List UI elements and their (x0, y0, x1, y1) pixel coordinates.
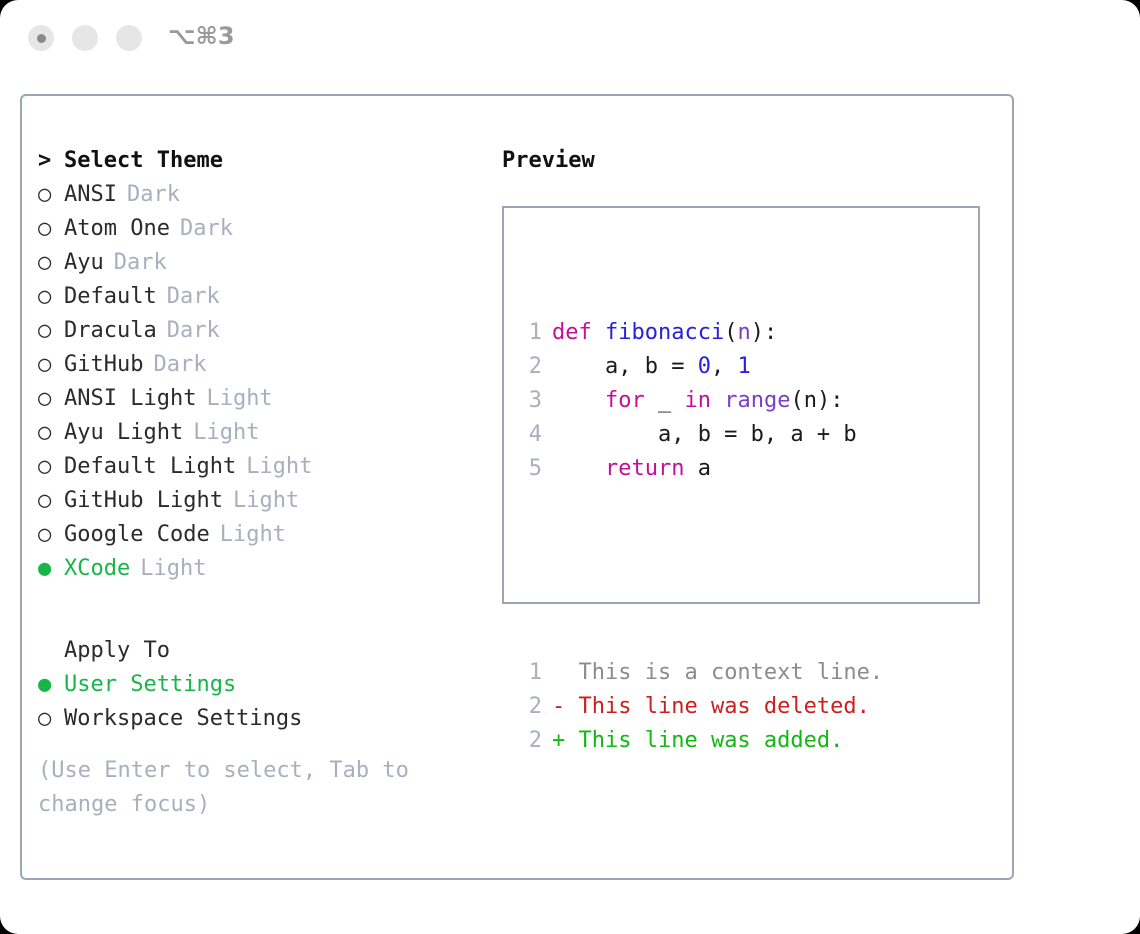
code-token: n (737, 320, 750, 345)
theme-name-label: Ayu Light (64, 416, 183, 450)
theme-name-label: Default Light (64, 450, 236, 484)
theme-variant-tag: Light (206, 382, 272, 416)
diff-line: 2- This line was deleted. (520, 690, 883, 724)
code-token: 0 (698, 354, 711, 379)
diff-marker-icon: + (552, 728, 565, 753)
theme-list-item[interactable]: ○Ayu LightLight (38, 416, 488, 450)
radio-unselected-icon: ○ (38, 178, 64, 212)
apply-to-heading: Apply To (38, 634, 488, 668)
code-token: ): (817, 388, 844, 413)
diff-sample-block: 1 This is a context line.2- This line wa… (520, 656, 883, 758)
theme-list-item[interactable]: ○GitHubDark (38, 348, 488, 382)
code-line-number: 5 (520, 452, 542, 486)
theme-list-item[interactable]: ○Atom OneDark (38, 212, 488, 246)
title-bar: ⌥⌘3 (0, 0, 1140, 78)
select-theme-heading: >Select Theme (38, 144, 488, 178)
code-line-number: 1 (520, 316, 542, 350)
code-line-number: 3 (520, 384, 542, 418)
code-token (592, 320, 605, 345)
theme-name-label: Google Code (64, 518, 210, 552)
theme-list-item[interactable]: ●XCodeLight (38, 552, 488, 586)
code-token: ( (790, 388, 803, 413)
radio-unselected-icon: ○ (38, 280, 64, 314)
theme-list-item[interactable]: ○DraculaDark (38, 314, 488, 348)
main-panel: >Select Theme ○ANSIDark○Atom OneDark○Ayu… (20, 94, 1014, 880)
theme-list: ○ANSIDark○Atom OneDark○AyuDark○DefaultDa… (38, 178, 488, 586)
radio-selected-icon: ● (38, 668, 64, 702)
theme-variant-tag: Light (220, 518, 286, 552)
theme-variant-tag: Dark (114, 246, 167, 280)
panel-columns: >Select Theme ○ANSIDark○Atom OneDark○Ayu… (22, 96, 1012, 878)
apply-to-item[interactable]: ●User Settings (38, 668, 488, 702)
theme-picker-column: >Select Theme ○ANSIDark○Atom OneDark○Ayu… (38, 144, 488, 736)
apply-to-heading-label: Apply To (64, 634, 170, 668)
code-token: a, b = (552, 354, 698, 379)
terminal-window: ⌥⌘3 >Select Theme ○ANSIDark○Atom OneDark… (0, 0, 1140, 934)
code-token (552, 456, 605, 481)
theme-variant-tag: Light (246, 450, 312, 484)
code-line: 2 a, b = 0, 1 (520, 350, 883, 384)
code-token: for (605, 388, 645, 413)
preview-code: 1def fibonacci(n):2 a, b = 0, 13 for _ i… (520, 248, 883, 826)
theme-variant-tag: Light (233, 484, 299, 518)
theme-list-item[interactable]: ○ANSIDark (38, 178, 488, 212)
diff-line: 2+ This line was added. (520, 724, 883, 758)
blank-marker-icon (38, 634, 64, 668)
code-line: 1def fibonacci(n): (520, 316, 883, 350)
theme-name-label: Ayu (64, 246, 104, 280)
theme-list-item[interactable]: ○ANSI LightLight (38, 382, 488, 416)
theme-name-label: Dracula (64, 314, 157, 348)
theme-name-label: Atom One (64, 212, 170, 246)
code-line: 5 return a (520, 452, 883, 486)
code-token: ): (751, 320, 778, 345)
radio-unselected-icon: ○ (38, 212, 64, 246)
close-button-dot[interactable] (28, 25, 54, 51)
apply-to-item[interactable]: ○Workspace Settings (38, 702, 488, 736)
theme-name-label: ANSI (64, 178, 117, 212)
radio-unselected-icon: ○ (38, 702, 64, 736)
code-token: in (684, 388, 711, 413)
code-token: , (711, 354, 738, 379)
code-line: 4 a, b = b, a + b (520, 418, 883, 452)
code-token: 1 (737, 354, 750, 379)
maximize-button-dot[interactable] (116, 25, 142, 51)
preview-box: 1def fibonacci(n):2 a, b = 0, 13 for _ i… (502, 206, 980, 604)
apply-to-label: Workspace Settings (64, 702, 302, 736)
code-token: fibonacci (605, 320, 724, 345)
radio-unselected-icon: ○ (38, 382, 64, 416)
radio-unselected-icon: ○ (38, 416, 64, 450)
radio-unselected-icon: ○ (38, 246, 64, 280)
diff-line-number: 2 (520, 690, 542, 724)
theme-name-label: ANSI Light (64, 382, 196, 416)
code-token: n (804, 388, 817, 413)
traffic-light-buttons (28, 25, 142, 51)
diff-line-number: 1 (520, 656, 542, 690)
theme-variant-tag: Dark (127, 178, 180, 212)
theme-variant-tag: Dark (167, 314, 220, 348)
keyboard-hint-text: (Use Enter to select, Tab to change focu… (38, 754, 468, 822)
theme-list-item[interactable]: ○GitHub LightLight (38, 484, 488, 518)
code-token: ( (724, 320, 737, 345)
code-token: a, b = b, a + b (552, 422, 857, 447)
code-line: 3 for _ in range(n): (520, 384, 883, 418)
radio-unselected-icon: ○ (38, 348, 64, 382)
preview-title: Preview (502, 144, 1002, 178)
radio-unselected-icon: ○ (38, 450, 64, 484)
apply-to-list: ●User Settings○Workspace Settings (38, 668, 488, 736)
radio-unselected-icon: ○ (38, 518, 64, 552)
theme-variant-tag: Dark (153, 348, 206, 382)
theme-name-label: XCode (64, 552, 130, 586)
prompt-caret-icon: > (38, 144, 64, 178)
theme-list-item[interactable]: ○Default LightLight (38, 450, 488, 484)
code-line-number: 2 (520, 350, 542, 384)
theme-list-item[interactable]: ○Google CodeLight (38, 518, 488, 552)
select-theme-heading-label: Select Theme (64, 144, 223, 178)
code-token: range (724, 388, 790, 413)
theme-name-label: Default (64, 280, 157, 314)
diff-line-text: This line was deleted. (565, 694, 870, 719)
diff-line-number: 2 (520, 724, 542, 758)
theme-list-item[interactable]: ○DefaultDark (38, 280, 488, 314)
apply-to-label: User Settings (64, 668, 236, 702)
code-token: _ (645, 388, 685, 413)
theme-variant-tag: Light (193, 416, 259, 450)
theme-name-label: GitHub Light (64, 484, 223, 518)
section-spacer (38, 586, 488, 634)
radio-unselected-icon: ○ (38, 314, 64, 348)
code-token: return (605, 456, 684, 481)
code-diff-separator (520, 554, 883, 588)
active-indicator-icon (37, 34, 46, 43)
radio-selected-icon: ● (38, 552, 64, 586)
radio-unselected-icon: ○ (38, 484, 64, 518)
minimize-button-dot[interactable] (72, 25, 98, 51)
code-token (552, 388, 605, 413)
theme-variant-tag: Light (140, 552, 206, 586)
code-token: def (552, 320, 592, 345)
code-sample-block: 1def fibonacci(n):2 a, b = 0, 13 for _ i… (520, 316, 883, 486)
diff-marker-icon (552, 660, 565, 685)
preview-column: Preview 1def fibonacci(n):2 a, b = 0, 13… (502, 144, 1002, 604)
diff-line: 1 This is a context line. (520, 656, 883, 690)
code-token (711, 388, 724, 413)
keyboard-shortcut-label: ⌥⌘3 (168, 22, 235, 50)
code-token: a (684, 456, 711, 481)
theme-variant-tag: Dark (167, 280, 220, 314)
theme-list-item[interactable]: ○AyuDark (38, 246, 488, 280)
diff-line-text: This line was added. (565, 728, 843, 753)
code-line-number: 4 (520, 418, 542, 452)
diff-line-text: This is a context line. (565, 660, 883, 685)
diff-marker-icon: - (552, 694, 565, 719)
theme-variant-tag: Dark (180, 212, 233, 246)
theme-name-label: GitHub (64, 348, 143, 382)
